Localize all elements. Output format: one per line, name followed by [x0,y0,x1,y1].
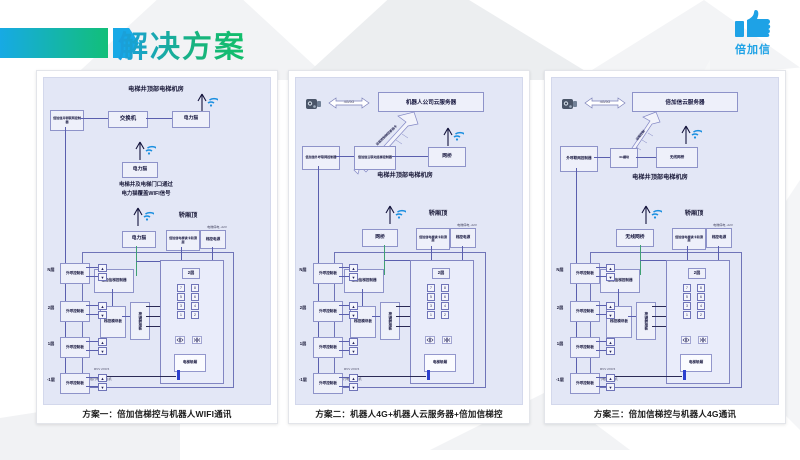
call-up-button[interactable]: ▲ [98,338,107,346]
call-down-button[interactable]: ▼ [606,383,615,391]
wifi-antenna-icon [640,204,662,226]
floor-label-2: 2层 [553,306,567,311]
power-note: 电梯停电 -22V [444,224,490,228]
keypad-button[interactable]: 6 [441,293,449,301]
floor-label-B1: -1层 [43,378,59,383]
call-down-button[interactable]: ▼ [349,347,358,355]
machine-room-label: 电梯井顶部电梯机房 [346,172,464,179]
floor-label-2: 2层 [296,306,310,311]
call-down-button[interactable]: ▼ [98,273,107,281]
call-down-button[interactable]: ▼ [98,311,107,319]
keypad-button[interactable]: 6 [191,293,199,301]
cable-note: RVV 2X0.5 [344,368,384,372]
page-title: 解决方案 [118,22,246,66]
title-banner [0,28,108,58]
floor-display: 2层 [182,268,200,279]
call-down-button[interactable]: ▼ [98,347,107,355]
floor-display: 2层 [432,268,450,279]
shaft-note-line2: 电力猫覆盖WIFI信号 [88,191,204,197]
card-reader-box[interactable]: 倍加信电梯读卡和测层 [166,230,200,251]
power-note: 电梯停电 -22V [700,224,746,228]
floor-label-B1: -1层 [552,378,568,383]
keypad-button[interactable]: 2 [441,311,449,319]
floor-label-N: N层 [44,268,58,273]
card-reader-box[interactable]: 倍加信电梯读卡和测层 [416,228,450,250]
wifi-antenna-icon [680,124,702,146]
call-up-button[interactable]: ▲ [98,374,107,382]
wifi-antenna-icon [442,126,464,148]
keypad-button[interactable]: 7 [177,284,185,292]
controller-box[interactable]: 倍加信井轿联网控制器 [50,110,84,131]
keypad-button[interactable]: 6 [697,293,705,301]
brand-name: 倍加信 [735,41,771,57]
call-down-button[interactable]: ▼ [349,383,358,391]
cable-note-2: 随行电缆至主机 [596,378,656,382]
plc-box-1[interactable]: 电力猫 [172,111,210,128]
cloud-server-box[interactable]: 倍加信云服务器 [632,92,738,112]
floor-label-1: 1层 [296,342,310,347]
brand-logo: 倍加信 [722,8,784,64]
outcall-controller-box[interactable]: 外呼联网控制器 [560,146,598,172]
plan-2-diagram: 4G/5G 机器人公司云服务器 远程控制梯控板指令 倍加信外呼联网控制器 [295,77,523,405]
keypad-button[interactable]: 1 [177,311,185,319]
power-supply-box[interactable]: 梯控电源 [450,228,476,248]
keypad-button[interactable]: 1 [427,311,435,319]
floor-label-N: N层 [296,268,310,273]
door-open-icon[interactable] [425,336,435,344]
keypad-button[interactable]: 5 [683,293,691,301]
call-down-button[interactable]: ▼ [349,311,358,319]
plc-box-2[interactable]: 电力猫 [122,162,158,178]
outcall-controller-box[interactable]: 倍加信外呼联网控制器 [302,146,340,170]
shaft-note-line1: 电梯井及电梯门口通过 [88,182,204,188]
call-down-button[interactable]: ▼ [606,311,615,319]
plan-2-card[interactable]: 4G/5G 机器人公司云服务器 远程控制梯控板指令 倍加信外呼联网控制器 [288,70,530,424]
call-up-button[interactable]: ▲ [349,374,358,382]
wifi-antenna-icon [384,204,406,226]
cable-note: RVV 2X0.5 [94,368,134,372]
call-down-button[interactable]: ▼ [606,347,615,355]
cable-note: RVV 2X0.5 [600,368,640,372]
floor-label-N: N层 [553,268,567,273]
floor-label-B1: -1层 [295,378,311,383]
relay-board-box[interactable]: 按键转接板 [130,302,150,340]
call-up-button[interactable]: ▲ [606,374,615,382]
bridge-box[interactable]: 网桥 [428,147,466,167]
call-up-button[interactable]: ▲ [98,264,107,272]
floor-label-1: 1层 [44,342,58,347]
keypad-button[interactable]: 2 [697,311,705,319]
cloud-linkage-controller-box[interactable]: 倍加信云联动连梯控制器 [354,146,396,170]
call-up-button[interactable]: ▲ [98,302,107,310]
keypad-button[interactable]: 7 [427,284,435,292]
keypad-button[interactable]: 8 [441,284,449,292]
wifi-antenna-icon [132,206,154,228]
keypad-button[interactable]: 4 [191,302,199,310]
plan-2-caption: 方案二：机器人4G+机器人云服务器+倍加信梯控 [289,408,529,420]
background-shape [300,0,600,80]
floor-label-1: 1层 [553,342,567,347]
keypad-button[interactable]: 2 [191,311,199,319]
switch-box[interactable]: 交换机 [108,111,148,128]
plan-3-diagram: 4G/5G 倍加信云服务器 远程控制 外呼联网控制器 4G模块 无线网桥 电梯井… [551,77,779,405]
cloud-server-box[interactable]: 机器人公司云服务器 [378,92,484,112]
wireless-bridge-box-2[interactable]: 无线网桥 [616,229,654,247]
wireless-bridge-box[interactable]: 无线网桥 [656,147,698,168]
call-up-button[interactable]: ▲ [606,264,615,272]
door-open-icon[interactable] [681,336,691,344]
module-4g-box[interactable]: 4G模块 [610,148,638,168]
keypad-button[interactable]: 8 [191,284,199,292]
call-down-button[interactable]: ▼ [349,273,358,281]
link-4g-label: 4G/5G [590,100,620,104]
car-top-label: 轿厢顶 [166,212,210,219]
relay-board-box[interactable]: 按键转接板 [636,302,656,340]
keypad-button[interactable]: 3 [427,302,435,310]
bridge-box-2[interactable]: 网桥 [362,229,398,247]
wifi-antenna-icon [134,140,156,162]
power-supply-box[interactable]: 梯控电源 [200,230,226,249]
keypad-button[interactable]: 1 [683,311,691,319]
robot-icon [304,96,324,112]
relay-board-box[interactable]: 按键转接板 [380,302,400,340]
keypad-button[interactable]: 3 [683,302,691,310]
keypad-button[interactable]: 5 [177,293,185,301]
door-close-icon[interactable] [442,336,452,344]
car-top-label: 轿厢顶 [416,210,460,217]
floor-label-2: 2层 [44,306,58,311]
call-up-button[interactable]: ▲ [349,338,358,346]
plan-1-diagram: 电梯井顶部电梯机房 倍加信井轿联网控制器 交换机 电力猫 [43,77,271,405]
keypad-button[interactable]: 4 [697,302,705,310]
keypad-button[interactable]: 4 [441,302,449,310]
power-supply-box[interactable]: 梯控电源 [706,228,732,248]
floor-display: 2层 [688,268,706,279]
keypad-button[interactable]: 8 [697,284,705,292]
door-close-icon[interactable] [698,336,708,344]
call-up-button[interactable]: ▲ [606,302,615,310]
call-up-button[interactable]: ▲ [349,264,358,272]
thumbs-up-icon [733,8,773,40]
card-reader-box[interactable]: 倍加信电梯读卡和测层 [672,228,706,250]
call-down-button[interactable]: ▼ [606,273,615,281]
call-up-button[interactable]: ▲ [606,338,615,346]
plan-3-card[interactable]: 4G/5G 倍加信云服务器 远程控制 外呼联网控制器 4G模块 无线网桥 电梯井… [544,70,786,424]
call-up-button[interactable]: ▲ [349,302,358,310]
machine-room-label: 电梯井顶部电梯机房 [600,174,720,181]
door-open-icon[interactable] [175,336,185,344]
plan-3-caption: 方案三：倍加信梯控与机器人4G通讯 [545,408,785,420]
robot-icon [560,96,580,112]
link-4g-label: 4G/5G [334,100,364,104]
keypad-button[interactable]: 7 [683,284,691,292]
call-down-button[interactable]: ▼ [98,383,107,391]
door-close-icon[interactable] [192,336,202,344]
plc-box-3[interactable]: 电力猫 [122,231,156,248]
plan-1-caption: 方案一：倍加信梯控与机器人WIFI通讯 [37,408,277,420]
plan-1-card[interactable]: 电梯井顶部电梯机房 倍加信井轿联网控制器 交换机 电力猫 [36,70,278,424]
keypad-button[interactable]: 3 [177,302,185,310]
power-note: 电梯停电 -22V [194,226,240,230]
keypad-button[interactable]: 5 [427,293,435,301]
car-top-label: 轿厢顶 [672,210,716,217]
